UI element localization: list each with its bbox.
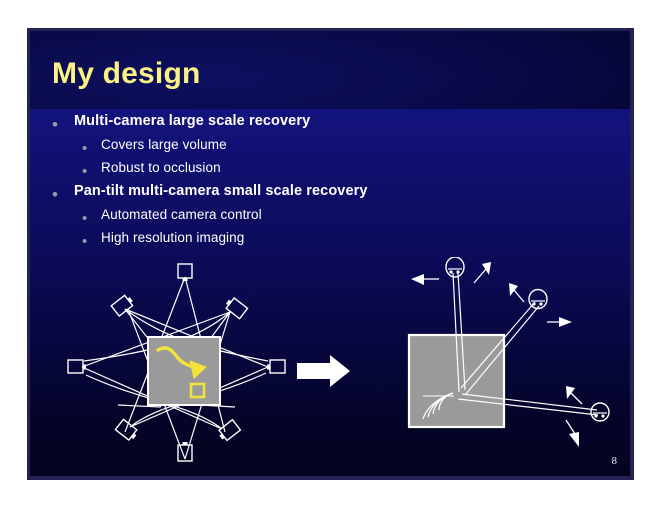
list-item: • High resolution imaging bbox=[82, 230, 630, 249]
bullet-marker-icon: • bbox=[82, 207, 101, 226]
list-item-label: High resolution imaging bbox=[101, 230, 244, 245]
camera-icon bbox=[591, 403, 609, 421]
bullet-marker-icon: • bbox=[82, 230, 101, 249]
slide-surface: My design • Multi-camera large scale rec… bbox=[30, 31, 630, 476]
diagram-canvas bbox=[30, 257, 630, 472]
pan-arrow-icon bbox=[566, 420, 579, 447]
list-item: • Robust to occlusion bbox=[82, 160, 630, 179]
slide-page: My design • Multi-camera large scale rec… bbox=[0, 0, 660, 510]
camera-icon bbox=[446, 257, 464, 277]
camera-icon bbox=[267, 360, 285, 373]
bullet-marker-icon: • bbox=[82, 160, 101, 179]
wide-baseline-camera-ring-diagram bbox=[68, 264, 285, 461]
tilt-arrow-icon bbox=[509, 283, 524, 302]
list-item-label: Robust to occlusion bbox=[101, 160, 221, 175]
right-arrow-icon bbox=[297, 355, 350, 387]
pan-arrow-icon bbox=[547, 317, 572, 327]
camera-icon bbox=[178, 264, 192, 281]
list-item: • Pan-tilt multi-camera small scale reco… bbox=[52, 183, 630, 203]
list-item-label: Pan-tilt multi-camera small scale recove… bbox=[74, 183, 368, 199]
figure-area bbox=[30, 257, 630, 472]
camera-icon bbox=[68, 360, 86, 373]
list-item: • Covers large volume bbox=[82, 137, 630, 156]
tilt-arrow-icon bbox=[474, 262, 491, 283]
list-item-label: Multi-camera large scale recovery bbox=[74, 113, 310, 129]
pan-tilt-camera-closeup-diagram bbox=[409, 257, 609, 447]
bullet-marker-icon: • bbox=[52, 113, 74, 133]
pan-arrow-icon bbox=[411, 274, 439, 285]
bullet-marker-icon: • bbox=[52, 183, 74, 203]
slide-frame: My design • Multi-camera large scale rec… bbox=[27, 28, 634, 480]
bullet-marker-icon: • bbox=[82, 137, 101, 156]
list-item: • Automated camera control bbox=[82, 207, 630, 226]
slide-page-number: 8 bbox=[612, 455, 618, 467]
list-item-label: Automated camera control bbox=[101, 207, 262, 222]
list-item-label: Covers large volume bbox=[101, 137, 227, 152]
ground-plane bbox=[148, 337, 220, 405]
camera-icon bbox=[217, 420, 241, 443]
camera-icon bbox=[111, 293, 135, 316]
bullet-list: • Multi-camera large scale recovery • Co… bbox=[30, 113, 630, 253]
tilt-arrow-icon bbox=[566, 386, 582, 404]
list-item: • Multi-camera large scale recovery bbox=[52, 113, 630, 133]
page-title: My design bbox=[52, 57, 201, 91]
camera-icon bbox=[529, 290, 547, 309]
